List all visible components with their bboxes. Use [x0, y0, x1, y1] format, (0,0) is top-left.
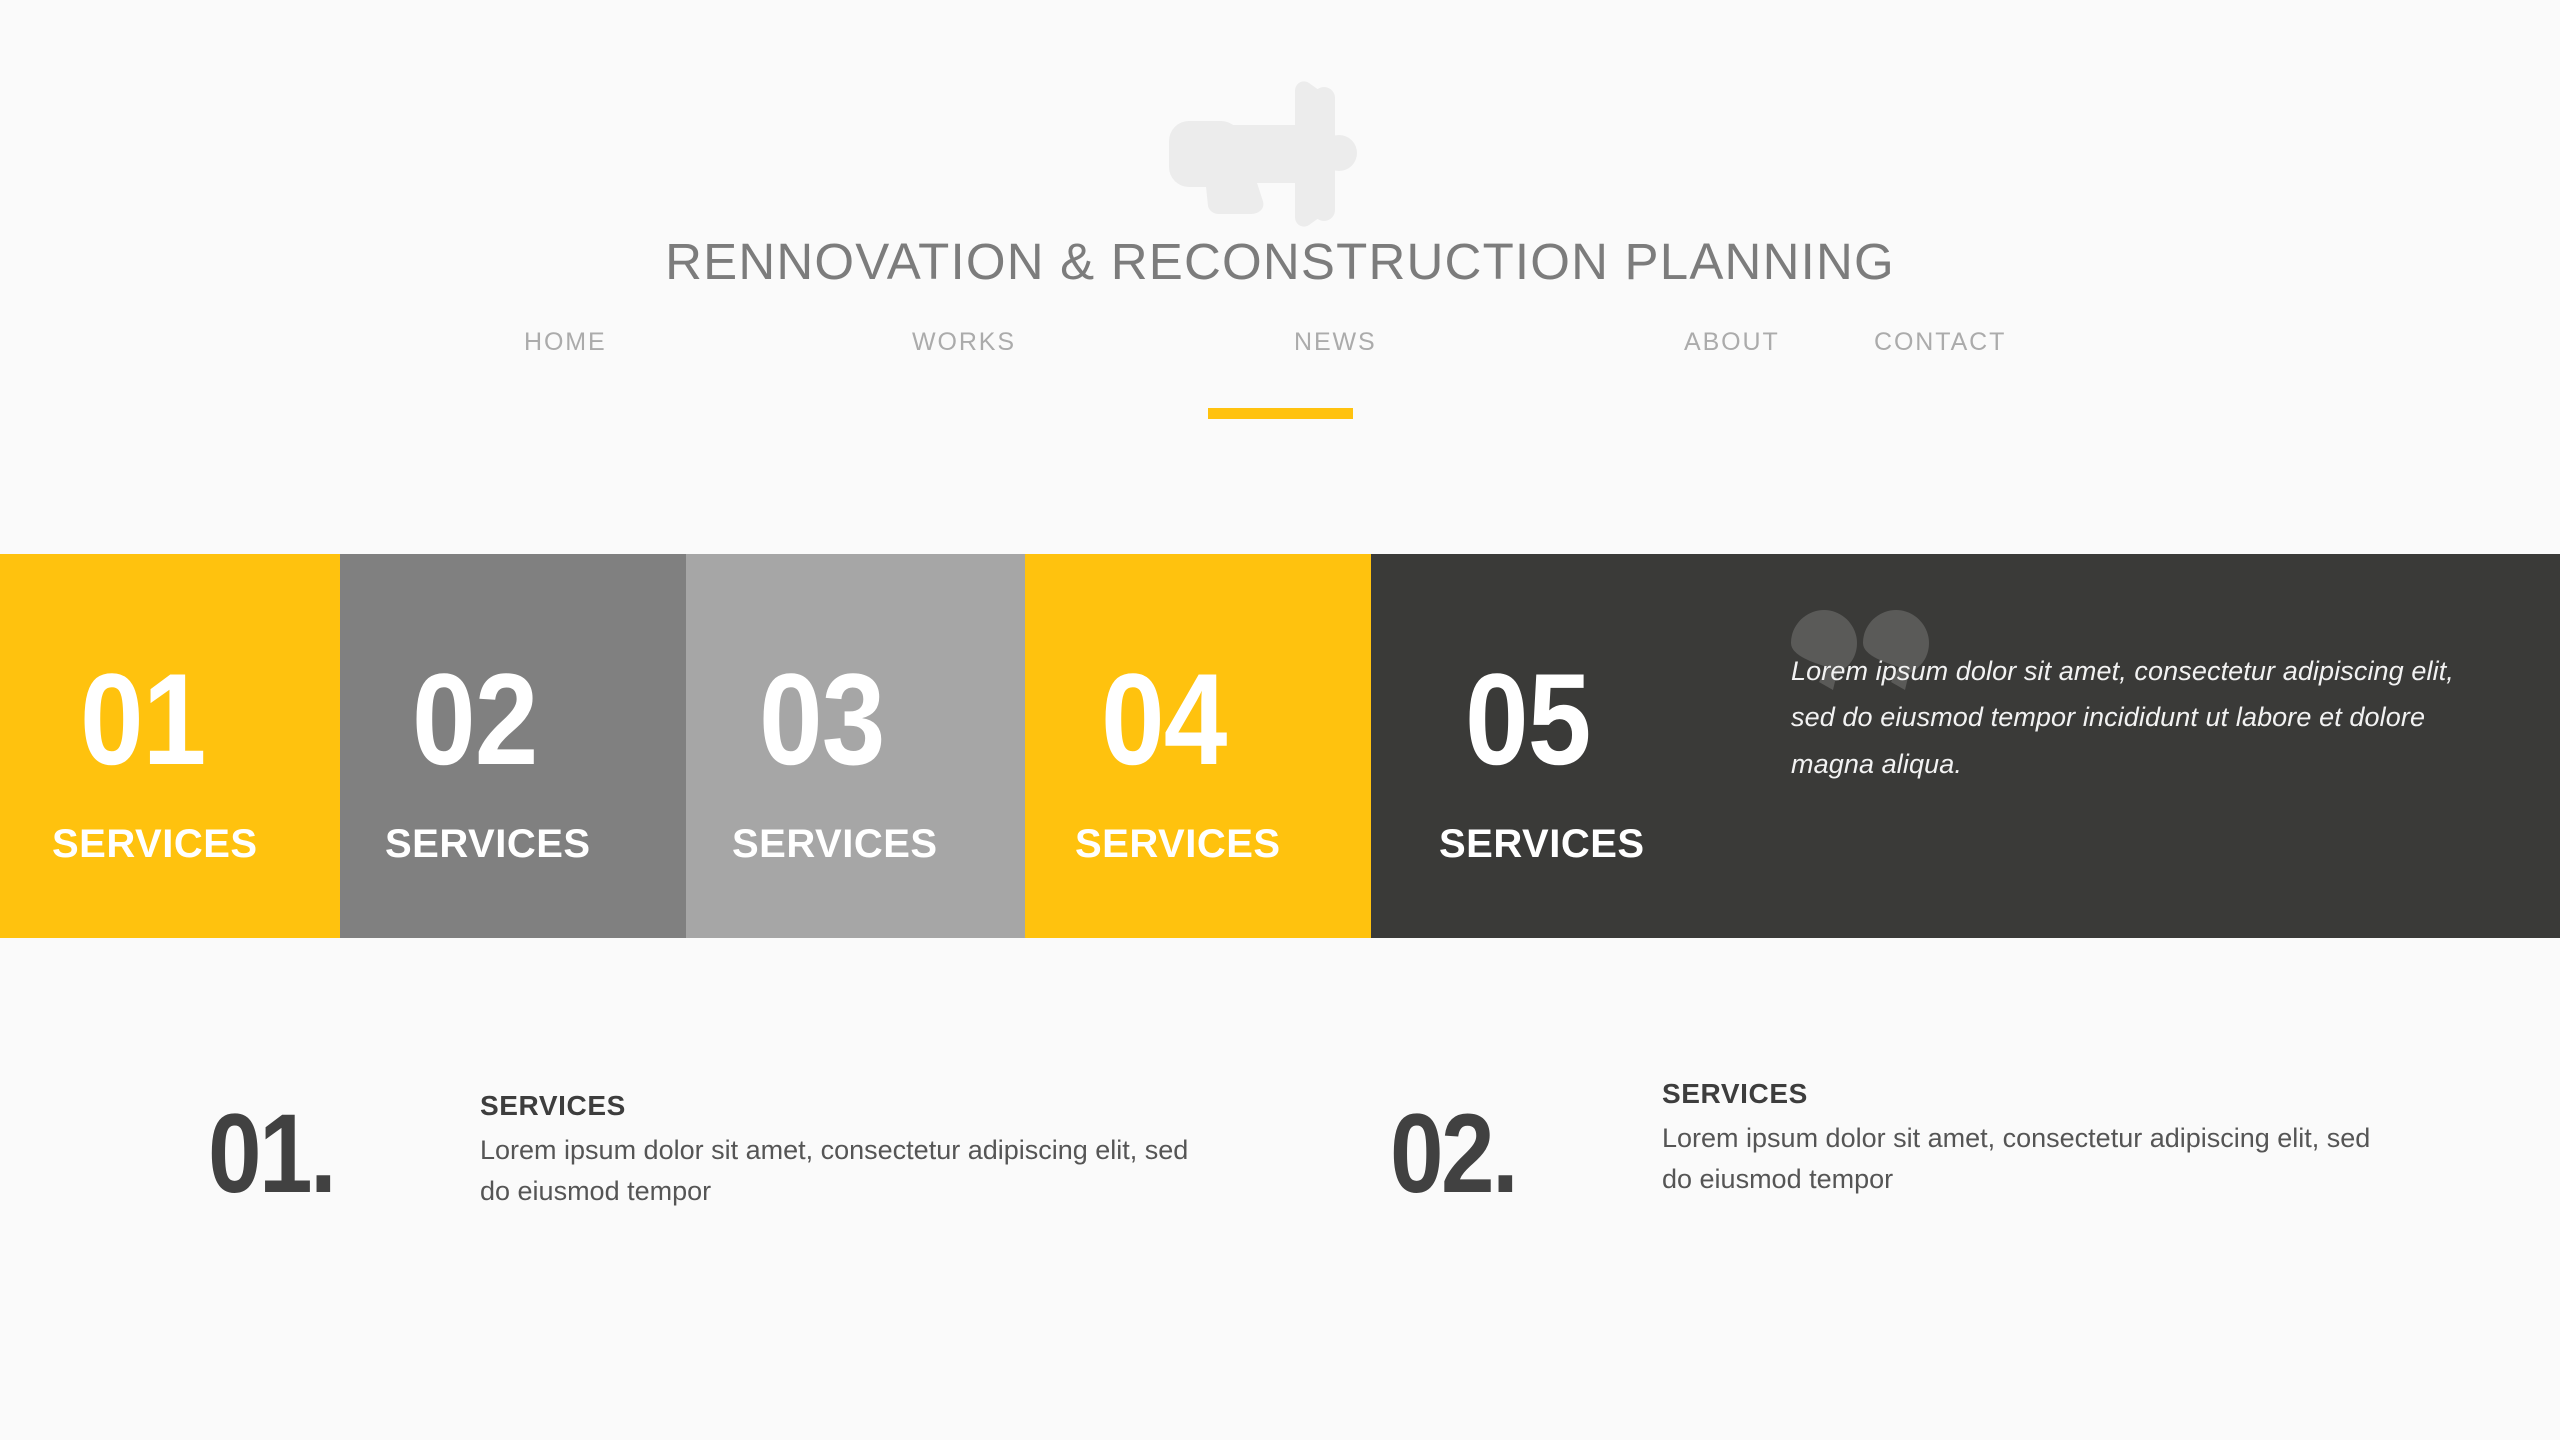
service-band-number: 02: [412, 654, 537, 784]
feature-description: Lorem ipsum dolor sit amet, consectetur …: [480, 1130, 1200, 1211]
quote-text: Lorem ipsum dolor sit amet, consectetur …: [1791, 648, 2471, 787]
service-band-02[interactable]: 02 SERVICES: [340, 554, 686, 938]
feature-title: SERVICES: [480, 1090, 1200, 1122]
nav-item-contact[interactable]: CONTACT: [1874, 328, 2006, 357]
services-band-strip: 01 SERVICES 02 SERVICES 03 SERVICES 04 S…: [0, 554, 2560, 938]
nav-item-works[interactable]: WORKS: [912, 328, 1016, 357]
features-section: 01. SERVICES Lorem ipsum dolor sit amet,…: [0, 1090, 2560, 1330]
service-band-01[interactable]: 01 SERVICES: [0, 554, 340, 938]
feature-description: Lorem ipsum dolor sit amet, consectetur …: [1662, 1118, 2382, 1199]
service-band-number: 03: [759, 654, 884, 784]
service-band-label: SERVICES: [1075, 822, 1281, 867]
feature-item-01: 01. SERVICES Lorem ipsum dolor sit amet,…: [208, 1090, 1278, 1290]
nav-item-about[interactable]: ABOUT: [1684, 328, 1780, 357]
page-title: RENNOVATION & RECONSTRUCTION PLANNING: [0, 232, 2560, 291]
service-band-label: SERVICES: [52, 822, 258, 867]
page-root: RENNOVATION & RECONSTRUCTION PLANNING HO…: [0, 0, 2560, 1440]
service-band-label: SERVICES: [732, 822, 938, 867]
service-band-number: 04: [1101, 654, 1226, 784]
nav-active-indicator: [1208, 408, 1353, 419]
site-header: RENNOVATION & RECONSTRUCTION PLANNING HO…: [0, 0, 2560, 554]
feature-number: 02.: [1390, 1098, 1516, 1210]
nav-item-home[interactable]: HOME: [524, 328, 607, 357]
service-band-04[interactable]: 04 SERVICES: [1025, 554, 1371, 938]
service-band-number: 05: [1465, 654, 1590, 784]
service-band-03[interactable]: 03 SERVICES: [686, 554, 1025, 938]
megaphone-icon: [1163, 75, 1403, 235]
service-band-number: 01: [80, 654, 205, 784]
feature-body: SERVICES Lorem ipsum dolor sit amet, con…: [480, 1090, 1200, 1211]
service-band-05[interactable]: 05 SERVICES Lorem ipsum dolor sit amet, …: [1371, 554, 2560, 938]
feature-title: SERVICES: [1662, 1078, 2382, 1110]
service-band-label: SERVICES: [385, 822, 591, 867]
main-nav: HOME WORKS NEWS ABOUT CONTACT: [0, 328, 2560, 368]
feature-item-02: 02. SERVICES Lorem ipsum dolor sit amet,…: [1390, 1090, 2460, 1290]
nav-item-news[interactable]: NEWS: [1294, 328, 1377, 357]
feature-number: 01.: [208, 1098, 334, 1210]
feature-body: SERVICES Lorem ipsum dolor sit amet, con…: [1662, 1078, 2382, 1199]
service-band-label: SERVICES: [1439, 822, 1645, 867]
